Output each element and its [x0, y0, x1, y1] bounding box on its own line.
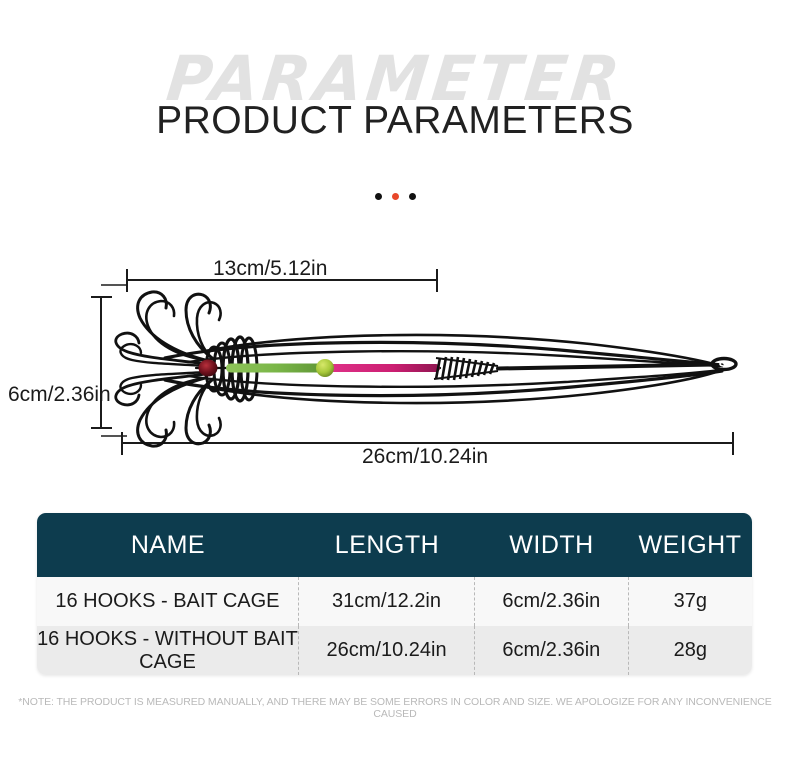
- hook-upper-3: [186, 294, 212, 358]
- dimension-height: [91, 297, 112, 428]
- footer-note: *NOTE: THE PRODUCT IS MEASURED MANUALLY,…: [0, 696, 790, 720]
- hook-lower-3: [186, 380, 212, 444]
- table-header-row: NAME LENGTH WIDTH WEIGHT: [37, 513, 752, 577]
- column-header-weight: WEIGHT: [628, 531, 752, 560]
- cell-length: 31cm/12.2in: [298, 577, 474, 626]
- page-title: PRODUCT PARAMETERS: [0, 100, 790, 143]
- dimension-extension-lines: [101, 285, 127, 436]
- spring-coil-section: [434, 357, 498, 380]
- cell-weight: 28g: [628, 626, 752, 675]
- cell-length: 26cm/10.24in: [298, 626, 474, 675]
- dot-2-accent: [392, 193, 399, 200]
- cell-width: 6cm/2.36in: [474, 577, 627, 626]
- column-header-width: WIDTH: [475, 531, 628, 560]
- rod-green-section: [226, 364, 326, 373]
- cell-width: 6cm/2.36in: [474, 626, 627, 675]
- rod-magenta-section: [322, 364, 440, 372]
- cell-weight: 37g: [628, 577, 752, 626]
- table-row: 16 HOOKS - WITHOUT BAIT CAGE 26cm/10.24i…: [37, 626, 752, 675]
- cell-name: 16 HOOKS - BAIT CAGE: [37, 577, 298, 626]
- specifications-table: NAME LENGTH WIDTH WEIGHT 16 HOOKS - BAIT…: [37, 513, 752, 675]
- dimension-total-length-label: 26cm/10.24in: [362, 445, 488, 469]
- column-header-length: LENGTH: [299, 531, 475, 560]
- product-diagram: 13cm/5.12in 6cm/2.36in 26cm/10.24in: [0, 240, 790, 490]
- leader-wire: [498, 365, 714, 369]
- cell-name: 16 HOOKS - WITHOUT BAIT CAGE: [37, 626, 298, 675]
- product-parameters-page: PARAMETER PRODUCT PARAMETERS: [0, 0, 790, 757]
- dimension-top-label: 13cm/5.12in: [213, 257, 327, 281]
- dot-3: [409, 193, 416, 200]
- dot-1: [375, 193, 382, 200]
- column-header-name: NAME: [37, 531, 299, 560]
- bead-green: [316, 359, 334, 377]
- bead-red: [199, 360, 218, 377]
- decorative-dots: [0, 193, 790, 200]
- dimension-height-label: 6cm/2.36in: [8, 383, 111, 407]
- table-row: 16 HOOKS - BAIT CAGE 31cm/12.2in 6cm/2.3…: [37, 577, 752, 626]
